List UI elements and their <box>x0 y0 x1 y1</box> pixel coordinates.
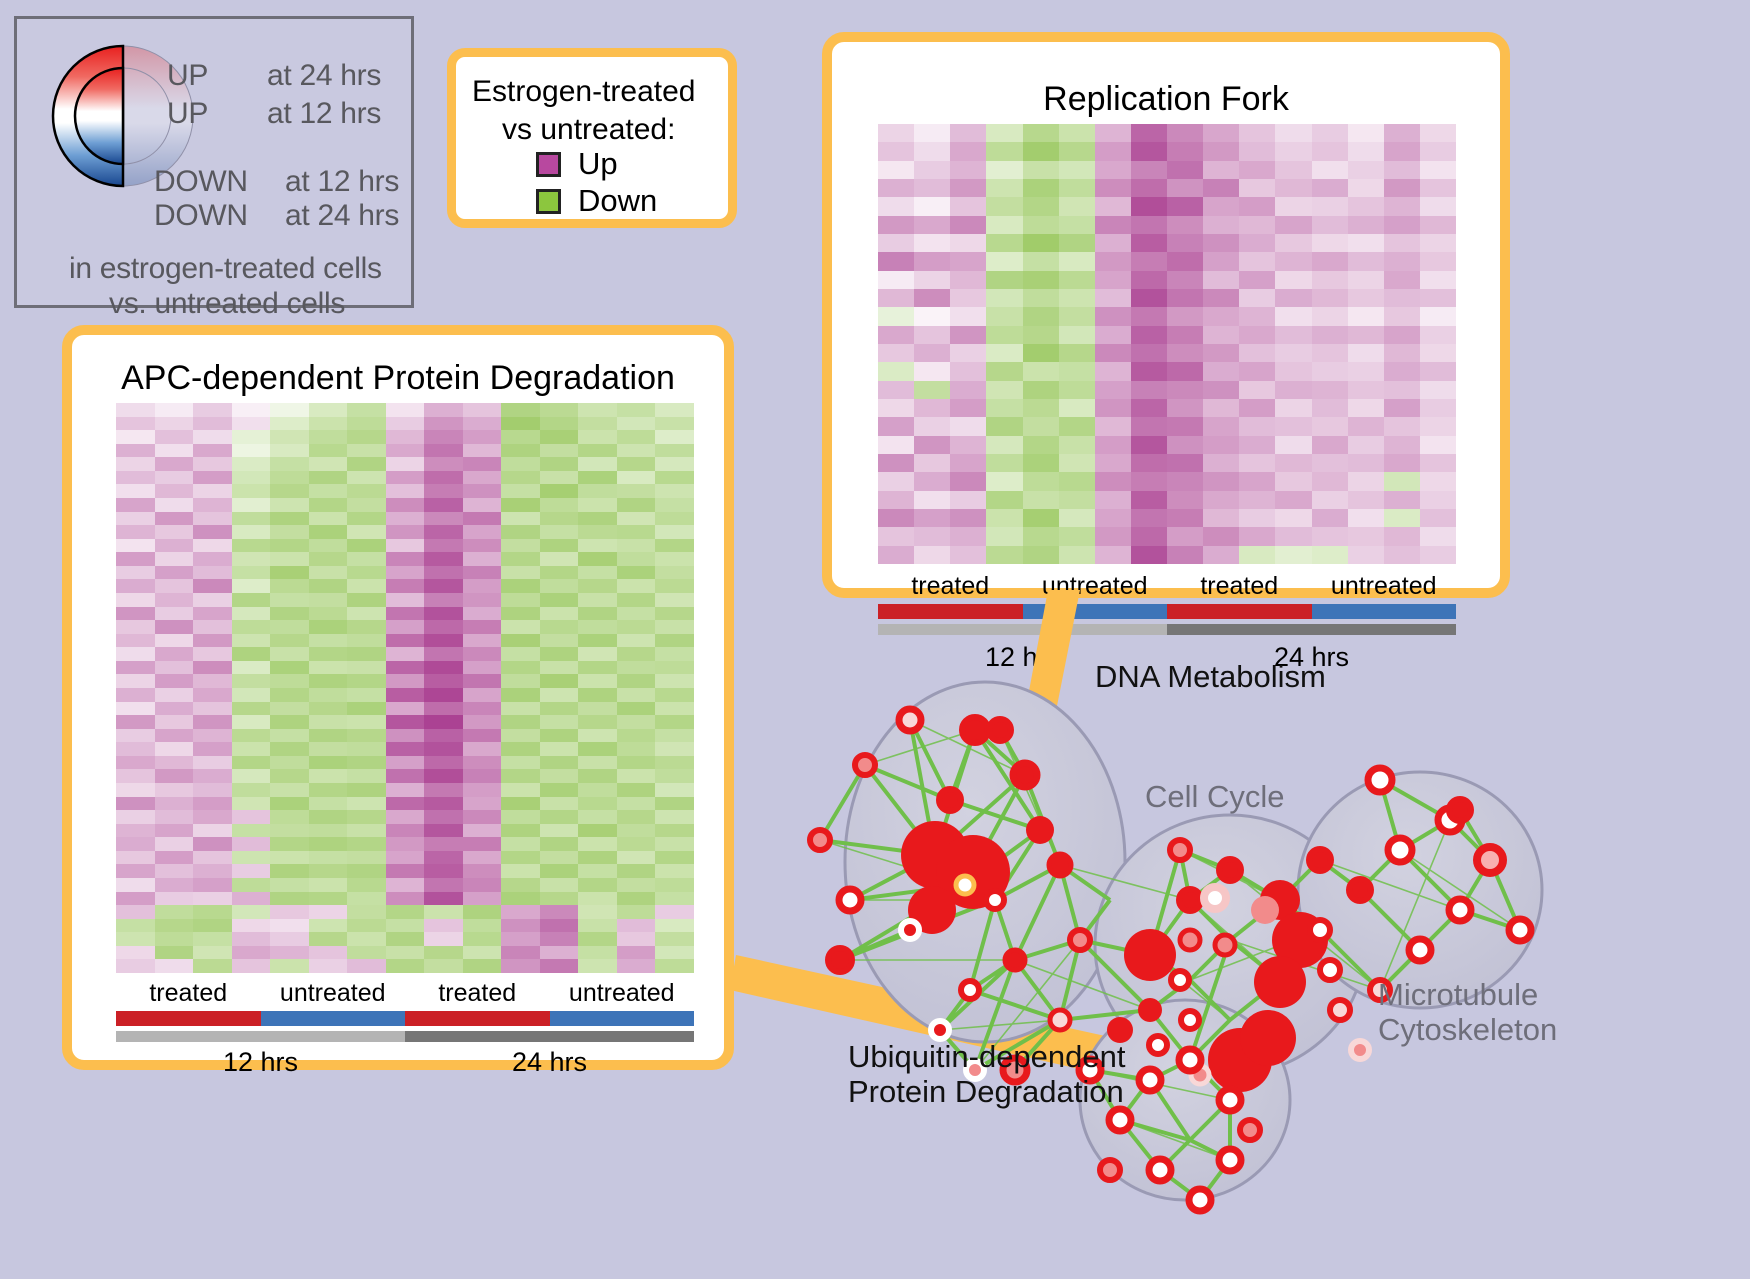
heatmap-cell <box>986 124 1022 142</box>
heatmap-cell <box>270 905 309 919</box>
heatmap-cell <box>386 647 425 661</box>
heatmap-cell <box>501 905 540 919</box>
heatmap-cell <box>116 484 155 498</box>
heatmap-cell <box>1312 234 1348 252</box>
heatmap-cell <box>501 634 540 648</box>
heatmap-cell <box>655 851 694 865</box>
heatmap-cell <box>578 837 617 851</box>
heatmap-cell <box>386 756 425 770</box>
heatmap-cell <box>193 417 232 431</box>
heatmap-cell <box>424 417 463 431</box>
group-label: untreated <box>261 979 406 1008</box>
heatmap-cell <box>617 756 656 770</box>
heatmap-cell <box>424 729 463 743</box>
heatmap-cell <box>116 403 155 417</box>
heatmap-cell <box>1131 381 1167 399</box>
heatmap-cell <box>878 417 914 435</box>
cluster-label-dna-metabolism: DNA Metabolism <box>1095 660 1326 695</box>
heatmap-cell <box>232 756 271 770</box>
heatmap-cell <box>347 444 386 458</box>
heatmap-cell <box>950 399 986 417</box>
heatmap-cell <box>1348 142 1384 160</box>
heatmap-cell <box>347 403 386 417</box>
heatmap-cell <box>309 769 348 783</box>
heatmap-cell <box>309 756 348 770</box>
heatmap-cell <box>1239 161 1275 179</box>
heatmap-cell <box>424 403 463 417</box>
heatmap-cell <box>463 688 502 702</box>
heatmap-cell <box>155 702 194 716</box>
heatmap-cell <box>155 471 194 485</box>
heatmap-cell <box>463 783 502 797</box>
heatmap-cell <box>1384 362 1420 380</box>
heatmap-cell <box>655 797 694 811</box>
heatmap-cell <box>386 579 425 593</box>
heatmap-cell <box>424 539 463 553</box>
heatmap-cell <box>424 919 463 933</box>
heatmap-cell <box>578 878 617 892</box>
heatmap-cell <box>116 539 155 553</box>
heatmap-cell <box>270 498 309 512</box>
heatmap-cell <box>424 946 463 960</box>
heatmap-cell <box>424 566 463 580</box>
heatmap-cell <box>540 593 579 607</box>
heatmap-cell <box>232 702 271 716</box>
heatmap-cell <box>617 797 656 811</box>
heatmap-cell <box>463 498 502 512</box>
heatmap-cell <box>232 864 271 878</box>
heatmap-cell <box>193 797 232 811</box>
heatmap-cell <box>617 512 656 526</box>
heatmap-cell <box>540 946 579 960</box>
heatmap-cell <box>1275 124 1311 142</box>
heatmap-cell <box>463 851 502 865</box>
heatmap-cell <box>501 837 540 851</box>
heatmap-cell <box>1239 252 1275 270</box>
heatmap-cell <box>309 525 348 539</box>
heatmap-cell <box>463 417 502 431</box>
heatmap-cell <box>347 946 386 960</box>
heatmap-cell <box>1275 161 1311 179</box>
heatmap-cell <box>232 824 271 838</box>
heatmap-cell <box>501 864 540 878</box>
heatmap-cell <box>1023 362 1059 380</box>
heatmap-cell <box>986 271 1022 289</box>
heatmap-cell <box>386 797 425 811</box>
heatmap-cell <box>1059 472 1095 490</box>
heatmap-cell <box>309 512 348 526</box>
heatmap-cell <box>578 824 617 838</box>
heatmap-cell <box>270 620 309 634</box>
heatmap-cell <box>578 851 617 865</box>
heatmap-cell <box>914 399 950 417</box>
heatmap-cell <box>1023 289 1059 307</box>
heatmap-cell <box>986 161 1022 179</box>
heatmap-cell <box>386 783 425 797</box>
heatmap-cell <box>1348 509 1384 527</box>
heatmap-cell <box>1059 546 1095 564</box>
heatmap-cell <box>232 579 271 593</box>
heatmap-cell <box>578 810 617 824</box>
heatmap-cell <box>655 647 694 661</box>
heatmap-cell <box>386 457 425 471</box>
heatmap-cell <box>1095 509 1131 527</box>
heatmap-cell <box>540 810 579 824</box>
heatmap-cell <box>1348 161 1384 179</box>
heatmap-cell <box>617 471 656 485</box>
heatmap-cell <box>950 179 986 197</box>
heatmap-cell <box>424 579 463 593</box>
heatmap-cell <box>232 959 271 973</box>
heatmap-cell <box>655 661 694 675</box>
heatmap-cell <box>578 661 617 675</box>
heatmap-cell <box>1167 362 1203 380</box>
heatmap-cell <box>617 457 656 471</box>
heatmap-cell <box>1131 344 1167 362</box>
key-at-24-bottom: at 24 hrs <box>285 199 399 233</box>
heatmap-cell <box>1167 491 1203 509</box>
heatmap-cell <box>155 634 194 648</box>
heatmap-cell <box>270 484 309 498</box>
heatmap-cell <box>347 647 386 661</box>
heatmap-cell <box>386 403 425 417</box>
heatmap-cell <box>655 457 694 471</box>
heatmap-cell <box>1384 527 1420 545</box>
heatmap-cell <box>116 512 155 526</box>
heatmap-cell <box>463 661 502 675</box>
heatmap-cell <box>232 552 271 566</box>
heatmap-cell <box>1275 381 1311 399</box>
heatmap-cell <box>270 715 309 729</box>
heatmap-cell <box>1203 307 1239 325</box>
heatmap-cell <box>232 566 271 580</box>
time-label: 12 hrs <box>116 1047 405 1078</box>
heatmap-cell <box>463 715 502 729</box>
heatmap-cell <box>1312 216 1348 234</box>
heatmap-cell <box>1095 271 1131 289</box>
heatmap-cell <box>1131 454 1167 472</box>
heatmap-cell <box>540 851 579 865</box>
heatmap-cell <box>309 742 348 756</box>
heatmap-cell <box>1239 472 1275 490</box>
heatmap-cell <box>1059 527 1095 545</box>
heatmap-cell <box>155 484 194 498</box>
heatmap-cell <box>655 878 694 892</box>
group-color-bar <box>116 1011 261 1026</box>
heatmap-cell <box>424 837 463 851</box>
heatmap-cell <box>1203 142 1239 160</box>
heatmap-cell <box>347 851 386 865</box>
heatmap-cell <box>232 851 271 865</box>
group-label: treated <box>405 979 550 1008</box>
heatmap-cell <box>578 512 617 526</box>
heatmap-cell <box>155 851 194 865</box>
heatmap-cell <box>309 797 348 811</box>
heatmap-cell <box>617 946 656 960</box>
heatmap-cell <box>578 566 617 580</box>
heatmap-cell <box>309 783 348 797</box>
heatmap-cell <box>1348 472 1384 490</box>
heatmap-cell <box>986 344 1022 362</box>
heatmap-cell <box>463 484 502 498</box>
heatmap-cell <box>116 905 155 919</box>
heatmap-cell <box>578 539 617 553</box>
heatmap-cell <box>1167 472 1203 490</box>
apc-group-bars <box>116 1011 694 1026</box>
heatmap-cell <box>386 959 425 973</box>
heatmap-cell <box>1239 344 1275 362</box>
key-subtitle-line1: in estrogen-treated cells <box>69 252 382 286</box>
heatmap-cell <box>986 509 1022 527</box>
heatmap-cell <box>540 905 579 919</box>
heatmap-cell <box>655 715 694 729</box>
heatmap-cell <box>116 471 155 485</box>
heatmap-cell <box>1095 399 1131 417</box>
heatmap-cell <box>155 769 194 783</box>
apc-degradation-card: APC-dependent Protein Degradation treate… <box>62 325 734 1070</box>
heatmap-cell <box>1312 252 1348 270</box>
heatmap-cell <box>1059 509 1095 527</box>
heatmap-cell <box>232 810 271 824</box>
heatmap-cell <box>1203 252 1239 270</box>
heatmap-cell <box>655 729 694 743</box>
heatmap-cell <box>950 197 986 215</box>
heatmap-cell <box>463 457 502 471</box>
heatmap-cell <box>617 674 656 688</box>
heatmap-cell <box>1059 326 1095 344</box>
heatmap-cell <box>501 430 540 444</box>
heatmap-cell <box>270 729 309 743</box>
heatmap-cell <box>501 661 540 675</box>
heatmap-cell <box>193 525 232 539</box>
heatmap-cell <box>1167 454 1203 472</box>
heatmap-cell <box>914 417 950 435</box>
heatmap-cell <box>347 471 386 485</box>
heatmap-cell <box>347 457 386 471</box>
heatmap-cell <box>878 216 914 234</box>
heatmap-cell <box>116 688 155 702</box>
heatmap-cell <box>386 946 425 960</box>
heatmap-cell <box>1167 436 1203 454</box>
heatmap-cell <box>1384 124 1420 142</box>
heatmap-cell <box>986 234 1022 252</box>
heatmap-cell <box>193 620 232 634</box>
heatmap-cell <box>155 742 194 756</box>
heatmap-cell <box>1167 216 1203 234</box>
heatmap-cell <box>232 620 271 634</box>
heatmap-cell <box>463 471 502 485</box>
heatmap-cell <box>1384 491 1420 509</box>
heatmap-cell <box>655 702 694 716</box>
heatmap-cell <box>1384 344 1420 362</box>
heatmap-cell <box>1131 289 1167 307</box>
heatmap-cell <box>232 471 271 485</box>
heatmap-cell <box>1384 179 1420 197</box>
heatmap-cell <box>1167 161 1203 179</box>
heatmap-cell <box>1384 252 1420 270</box>
heatmap-cell <box>617 566 656 580</box>
heatmap-cell <box>617 824 656 838</box>
heatmap-cell <box>1095 179 1131 197</box>
heatmap-cell <box>155 878 194 892</box>
heatmap-cell <box>1203 197 1239 215</box>
heatmap-cell <box>386 810 425 824</box>
heatmap-cell <box>424 512 463 526</box>
heatmap-cell <box>578 403 617 417</box>
heatmap-cell <box>617 715 656 729</box>
heatmap-cell <box>463 797 502 811</box>
heatmap-cell <box>347 579 386 593</box>
heatmap-cell <box>1348 527 1384 545</box>
heatmap-cell <box>878 161 914 179</box>
heatmap-cell <box>232 593 271 607</box>
heatmap-cell <box>540 552 579 566</box>
heatmap-cell <box>878 436 914 454</box>
heatmap-cell <box>1059 124 1095 142</box>
heatmap-cell <box>116 946 155 960</box>
heatmap-cell <box>232 634 271 648</box>
heatmap-cell <box>950 289 986 307</box>
heatmap-cell <box>1239 179 1275 197</box>
heatmap-cell <box>950 491 986 509</box>
heatmap-cell <box>1023 216 1059 234</box>
heatmap-cell <box>878 491 914 509</box>
heatmap-cell <box>1420 527 1456 545</box>
heatmap-cell <box>270 769 309 783</box>
heatmap-cell <box>386 471 425 485</box>
heatmap-cell <box>950 381 986 399</box>
heatmap-cell <box>617 552 656 566</box>
heatmap-cell <box>1167 381 1203 399</box>
heatmap-cell <box>270 539 309 553</box>
heatmap-cell <box>347 661 386 675</box>
heatmap-cell <box>1239 546 1275 564</box>
heatmap-cell <box>501 525 540 539</box>
heatmap-cell <box>116 579 155 593</box>
heatmap-cell <box>1023 234 1059 252</box>
heatmap-cell <box>1275 344 1311 362</box>
heatmap-cell <box>1420 307 1456 325</box>
heatmap-cell <box>1131 472 1167 490</box>
heatmap-cell <box>1312 326 1348 344</box>
heatmap-cell <box>914 326 950 344</box>
heatmap-cell <box>501 892 540 906</box>
heatmap-cell <box>1312 509 1348 527</box>
heatmap-cell <box>193 607 232 621</box>
heatmap-cell <box>116 864 155 878</box>
heatmap-cell <box>232 783 271 797</box>
heatmap-cell <box>116 661 155 675</box>
heatmap-cell <box>347 552 386 566</box>
apc-group-labels: treateduntreatedtreateduntreated <box>116 979 694 1008</box>
heatmap-cell <box>1167 124 1203 142</box>
heatmap-cell <box>1239 436 1275 454</box>
heatmap-cell <box>155 444 194 458</box>
heatmap-cell <box>309 864 348 878</box>
heatmap-cell <box>1023 417 1059 435</box>
heatmap-cell <box>386 512 425 526</box>
heatmap-cell <box>986 307 1022 325</box>
heatmap-cell <box>1131 509 1167 527</box>
heatmap-cell <box>1348 216 1384 234</box>
heatmap-cell <box>1420 252 1456 270</box>
heatmap-cell <box>155 797 194 811</box>
heatmap-cell <box>540 634 579 648</box>
heatmap-cell <box>424 959 463 973</box>
heatmap-cell <box>578 742 617 756</box>
heatmap-cell <box>1239 307 1275 325</box>
heatmap-cell <box>1167 252 1203 270</box>
heatmap-cell <box>540 702 579 716</box>
heatmap-cell <box>617 430 656 444</box>
heatmap-cell <box>617 661 656 675</box>
heatmap-cell <box>1384 546 1420 564</box>
heatmap-cell <box>1420 289 1456 307</box>
heatmap-cell <box>1348 546 1384 564</box>
heatmap-cell <box>463 512 502 526</box>
cluster-label-ubiquitin: Ubiquitin-dependent Protein Degradation <box>848 1040 1126 1109</box>
heatmap-cell <box>347 525 386 539</box>
heatmap-cell <box>1059 216 1095 234</box>
heatmap-cell <box>501 484 540 498</box>
heatmap-cell <box>347 430 386 444</box>
group-label: untreated <box>1312 572 1457 601</box>
heatmap-cell <box>309 959 348 973</box>
replication-fork-title: Replication Fork <box>832 80 1500 119</box>
heatmap-cell <box>1167 234 1203 252</box>
heatmap-cell <box>270 430 309 444</box>
heatmap-cell <box>914 362 950 380</box>
heatmap-cell <box>1131 307 1167 325</box>
heatmap-cell <box>1131 417 1167 435</box>
heatmap-cell <box>1059 344 1095 362</box>
heatmap-cell <box>540 919 579 933</box>
heatmap-cell <box>463 824 502 838</box>
heatmap-cell <box>1023 271 1059 289</box>
heatmap-cell <box>347 810 386 824</box>
heatmap-cell <box>578 620 617 634</box>
heatmap-cell <box>424 444 463 458</box>
heatmap-cell <box>1275 197 1311 215</box>
heatmap-cell <box>463 647 502 661</box>
heatmap-cell <box>540 715 579 729</box>
heatmap-cell <box>540 769 579 783</box>
heatmap-cell <box>501 579 540 593</box>
heatmap-cell <box>193 484 232 498</box>
heatmap-cell <box>1167 271 1203 289</box>
heatmap-cell <box>540 444 579 458</box>
heatmap-cell <box>1131 124 1167 142</box>
heatmap-cell <box>386 552 425 566</box>
heatmap-cell <box>501 498 540 512</box>
heatmap-cell <box>1312 472 1348 490</box>
apc-time-labels: 12 hrs24 hrs <box>116 1047 694 1078</box>
heatmap-cell <box>1131 142 1167 160</box>
heatmap-cell <box>193 444 232 458</box>
heatmap-cell <box>655 552 694 566</box>
heatmap-cell <box>386 851 425 865</box>
heatmap-cell <box>424 457 463 471</box>
heatmap-cell <box>914 472 950 490</box>
heatmap-cell <box>578 688 617 702</box>
heatmap-cell <box>1023 142 1059 160</box>
heatmap-cell <box>655 837 694 851</box>
heatmap-cell <box>1312 546 1348 564</box>
heatmap-cell <box>1059 252 1095 270</box>
heatmap-cell <box>617 444 656 458</box>
heatmap-cell <box>1023 546 1059 564</box>
heatmap-cell <box>424 471 463 485</box>
